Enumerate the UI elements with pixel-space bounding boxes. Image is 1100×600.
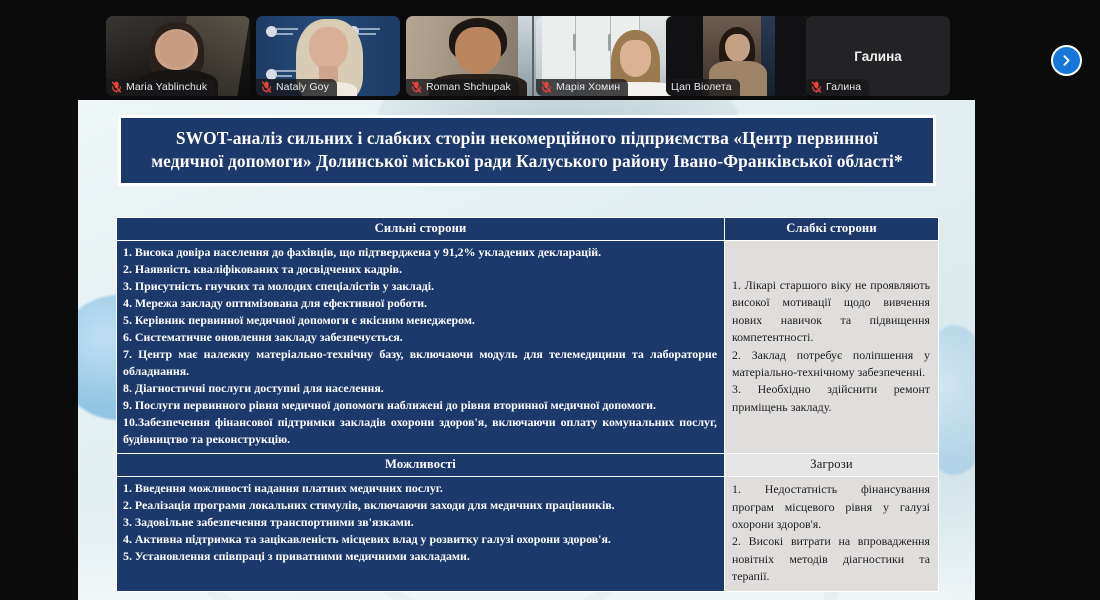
weaknesses-item: 2. Заклад потребує поліпшення у матеріал… — [732, 347, 930, 382]
participant-nameplate: Галина — [806, 79, 869, 96]
opportunities-cell: 1. Введення можливості надання платних м… — [117, 477, 725, 592]
weaknesses-item: 1. Лікарі старшого віку не проявляють ви… — [732, 277, 930, 347]
participant-name-label: Цап Віолета — [671, 81, 732, 93]
chevron-right-icon — [1060, 54, 1073, 67]
participant-name-label: Марія Хомин — [556, 81, 620, 93]
slide-title: SWOT-аналіз сильних і слабких сторін нек… — [139, 127, 915, 172]
participant-name-label: Roman Shchupak — [426, 81, 511, 93]
participant-tile-halyna[interactable]: Галина Галина — [806, 16, 950, 96]
opportunities-item: 2. Реалізація програми локальних стимулі… — [123, 497, 717, 514]
table-row-opportunities-threats: 1. Введення можливості надання платних м… — [117, 477, 939, 592]
participant-tile-tsap-violeta[interactable]: Цап Віолета — [666, 16, 810, 96]
participant-tile-mariia-khomyn[interactable]: Марія Хомин — [536, 16, 680, 96]
microphone-muted-icon — [411, 81, 422, 93]
weaknesses-header: Слабкі сторони — [725, 218, 939, 241]
opportunities-item: 4. Активна підтримка та зацікавленість м… — [123, 531, 717, 548]
participant-tile-maria-yablinchuk[interactable]: Maria Yablinchuk — [106, 16, 250, 96]
microphone-muted-icon — [811, 81, 822, 93]
opportunities-header: Можливості — [117, 454, 725, 477]
strengths-item: 9. Послуги первинного рівня медичної доп… — [123, 397, 717, 414]
strengths-item: 3. Присутність гнучких та молодих спеціа… — [123, 278, 717, 295]
strengths-item: 10.Забезпечення фінансової підтримки зак… — [123, 414, 717, 448]
microphone-muted-icon — [261, 81, 272, 93]
participant-nameplate: Марія Хомин — [536, 79, 628, 96]
next-participants-page-button[interactable] — [1051, 45, 1082, 76]
strengths-item: 7. Центр має належну матеріально-технічн… — [123, 346, 717, 380]
threats-cell: 1. Недостатність фінансування програм мі… — [725, 477, 939, 592]
microphone-muted-icon — [111, 81, 122, 93]
participant-nameplate: Nataly Goy — [256, 79, 337, 96]
participant-tile-roman-shchupak[interactable]: Roman Shchupak — [406, 16, 550, 96]
participant-nameplate: Цап Віолета — [666, 79, 740, 96]
strengths-item: 1. Висока довіра населення до фахівців, … — [123, 244, 717, 261]
meeting-screen-share-window: Maria Yablinchuk Nataly Goy — [0, 0, 1100, 600]
participant-name-label: Nataly Goy — [276, 81, 329, 93]
strengths-cell: 1. Висока довіра населення до фахівців, … — [117, 241, 725, 454]
swot-analysis-table: Сильні сторони Слабкі сторони 1. Висока … — [116, 217, 939, 592]
opportunities-item: 5. Установлення співпраці з приватними м… — [123, 548, 717, 565]
participant-tile-nataly-goy[interactable]: Nataly Goy — [256, 16, 400, 96]
shared-slide-content[interactable]: SWOT-аналіз сильних і слабких сторін нек… — [78, 100, 975, 600]
participant-nameplate: Maria Yablinchuk — [106, 79, 215, 96]
table-row-headers-top: Сильні сторони Слабкі сторони — [117, 218, 939, 241]
table-row-headers-bottom: Можливості Загрози — [117, 454, 939, 477]
weaknesses-item: 3. Необхідно здійснити ремонт приміщень … — [732, 381, 930, 416]
opportunities-item: 3. Задовільне забезпечення транспортними… — [123, 514, 717, 531]
threats-header: Загрози — [725, 454, 939, 477]
strengths-header: Сильні сторони — [117, 218, 725, 241]
microphone-muted-icon — [541, 81, 552, 93]
participant-nameplate: Roman Shchupak — [406, 79, 519, 96]
slide-title-box: SWOT-аналіз сильних і слабких сторін нек… — [118, 115, 936, 186]
participant-name-label: Галина — [826, 81, 861, 93]
participant-filmstrip: Maria Yablinchuk Nataly Goy — [0, 0, 1100, 100]
weaknesses-cell: 1. Лікарі старшого віку не проявляють ви… — [725, 241, 939, 454]
opportunities-item: 1. Введення можливості надання платних м… — [123, 480, 717, 497]
threats-item: 1. Недостатність фінансування програм мі… — [732, 481, 930, 533]
strengths-item: 5. Керівник первинної медичної допомоги … — [123, 312, 717, 329]
strengths-item: 4. Мережа закладу оптимізована для ефект… — [123, 295, 717, 312]
table-row-strengths-weaknesses: 1. Висока довіра населення до фахівців, … — [117, 241, 939, 454]
threats-item: 2. Високі витрати на впровадження новітн… — [732, 533, 930, 585]
participant-name-label: Maria Yablinchuk — [126, 81, 207, 93]
strengths-item: 6. Систематичне оновлення закладу забезп… — [123, 329, 717, 346]
strengths-item: 8. Діагностичні послуги доступні для нас… — [123, 380, 717, 397]
strengths-item: 2. Наявність кваліфікованих та досвідчен… — [123, 261, 717, 278]
